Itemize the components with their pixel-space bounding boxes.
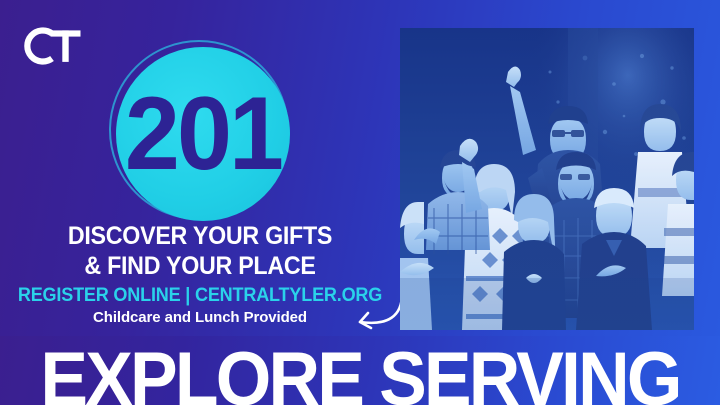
bottom-banner: EXPLORE SERVING bbox=[0, 336, 720, 405]
tagline: DISCOVER YOUR GIFTS & FIND YOUR PLACE bbox=[14, 222, 386, 281]
tagline-line-2: & FIND YOUR PLACE bbox=[14, 252, 386, 282]
promo-poster: 201 DISCOVER YOUR GIFTS & FIND YOUR PLAC… bbox=[0, 0, 720, 405]
banner-headline: EXPLORE SERVING bbox=[40, 342, 679, 405]
badge-number: 201 bbox=[120, 47, 285, 221]
tagline-line-1: DISCOVER YOUR GIFTS bbox=[68, 222, 332, 250]
worship-photo-illustration bbox=[400, 28, 694, 330]
ct-monogram-icon bbox=[24, 24, 88, 68]
ct-logo bbox=[24, 24, 88, 68]
register-line[interactable]: REGISTER ONLINE | CENTRALTYLER.ORG bbox=[10, 285, 390, 307]
curved-arrow-icon bbox=[336, 292, 406, 338]
course-number-badge: 201 bbox=[109, 40, 295, 226]
worship-photo bbox=[400, 28, 694, 330]
